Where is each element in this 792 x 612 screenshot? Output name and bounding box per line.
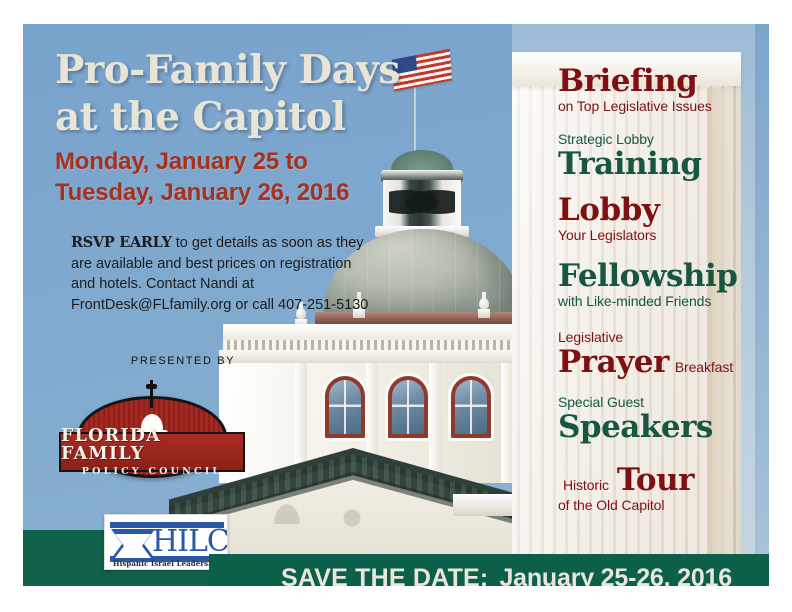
page-title: Pro-Family Days at the Capitol [55,47,485,141]
florida-family-policy-council-logo: FLORIDA FAMILY POLICY COUNCIL [59,374,245,480]
agenda-list: Briefing on Top Legislative Issues Strat… [512,24,769,586]
star-of-david-icon [111,525,155,563]
agenda-item-fellowship: Fellowship with Like-minded Friends [558,260,769,310]
agenda-item-tour: Historic Tour of the Old Capitol [558,464,769,514]
event-dates: Monday, January 25 to Tuesday, January 2… [55,146,485,208]
agenda-item-lobby: Lobby Your Legislators [558,194,769,244]
agenda-item-subtitle: Your Legislators [558,227,769,244]
agenda-item-speakers: Special Guest Speakers [558,394,769,444]
agenda-item-subtitle: Historic [563,477,609,494]
agenda-item-briefing: Briefing on Top Legislative Issues [558,65,769,115]
presented-by-label: PRESENTED BY [93,355,273,367]
agenda-item-subtitle: on Top Legislative Issues [558,98,769,115]
event-poster: Pro-Family Days at the Capitol Monday, J… [23,24,769,586]
date-line-2: Tuesday, January 26, 2016 [55,177,485,208]
agenda-item-prayer-breakfast: Legislative Prayer Breakfast [558,329,769,379]
ffpc-spire-icon [150,380,153,408]
agenda-item-subtitle-2: of the Old Capitol [558,497,769,514]
ffpc-nameplate: FLORIDA FAMILY POLICY COUNCIL [59,432,245,472]
banner-date-range: January 25-26, 2016 [499,564,731,586]
agenda-item-title: Briefing [558,65,769,98]
left-content-column: Pro-Family Days at the Capitol Monday, J… [23,24,512,586]
ffpc-name-line-1: FLORIDA FAMILY [61,427,243,463]
rsvp-paragraph: RSVP EARLY to get details as soon as the… [71,233,371,315]
agenda-item-title: Tour [617,464,694,497]
agenda-item-training: Strategic Lobby Training [558,131,769,181]
headline-line-2: at the Capitol [55,94,485,141]
agenda-item-subtitle: with Like-minded Friends [558,293,769,310]
save-the-date-label: SAVE THE DATE: [281,564,488,586]
rsvp-emphasis: RSVP EARLY [71,234,172,251]
agenda-item-subtitle-2: Breakfast [675,359,733,376]
agenda-item-title: Fellowship [558,260,769,293]
agenda-item-title: Speakers [558,411,769,444]
headline-line-1: Pro-Family Days [55,47,485,94]
agenda-item-title: Prayer [558,346,669,379]
agenda-item-title: Lobby [558,194,769,227]
date-line-1: Monday, January 25 to [55,146,485,177]
ffpc-name-line-2: POLICY COUNCIL [82,465,222,478]
agenda-item-title: Training [558,148,769,181]
save-the-date-banner: SAVE THE DATE: January 25-26, 2016 [209,554,769,586]
